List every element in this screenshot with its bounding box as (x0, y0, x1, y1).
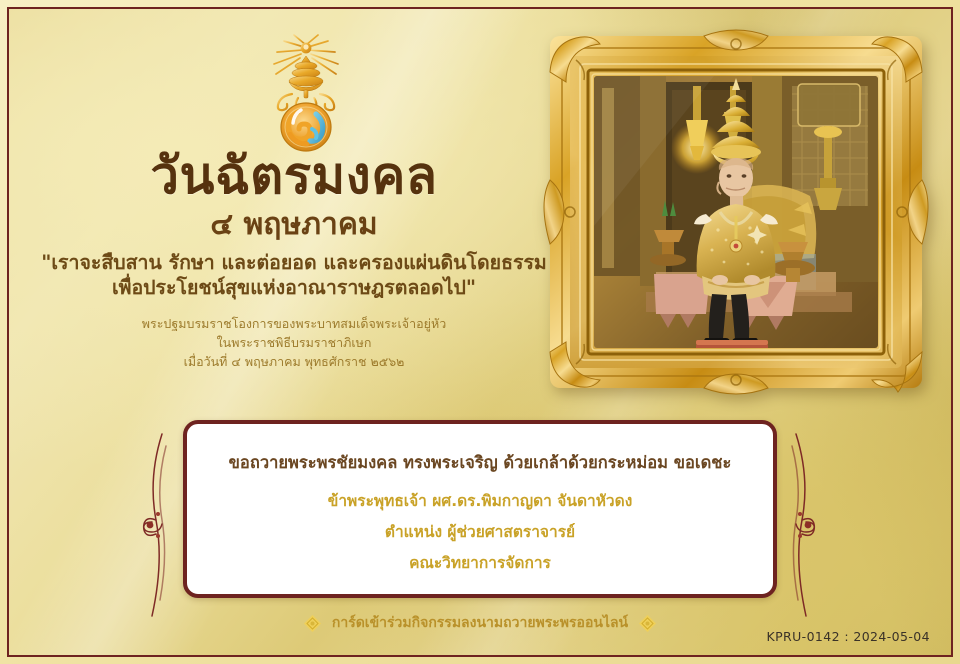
document-id: KPRU-0142 : 2024-05-04 (767, 629, 931, 644)
royal-cypher-emblem (252, 28, 360, 154)
diamond-ornament-right-icon (639, 615, 656, 632)
observance-date: ๔ พฤษภาคม (14, 206, 574, 244)
royal-portrait-frame (536, 24, 936, 400)
royal-quote: "เราจะสืบสาน รักษา และต่อยอด และครองแผ่น… (14, 250, 574, 302)
royal-quote-line-2: เพื่อประโยชน์สุขแห่งอาณาราษฎรตลอดไป" (14, 275, 574, 301)
signer-name: ข้าพระพุทธเจ้า ผศ.ดร.พิมกาญดา จันดาหัวดง (187, 493, 773, 511)
flourish-ornament-right (776, 430, 822, 620)
attribution-line-1: พระปฐมบรมราชโองการของพระบาทสมเด็จพระเจ้า… (14, 315, 574, 334)
blessing-text: ขอถวายพระพรชัยมงคล ทรงพระเจริญ ด้วยเกล้า… (187, 454, 773, 473)
attribution-line-2: ในพระราชพิธีบรมราชาภิเษก (14, 334, 574, 353)
signer-faculty: คณะวิทยาการจัดการ (187, 555, 773, 573)
page-title: วันฉัตรมงคล (14, 150, 574, 204)
royal-quote-line-1: "เราจะสืบสาน รักษา และต่อยอด และครองแผ่น… (14, 250, 574, 276)
diamond-ornament-left-icon (304, 615, 321, 632)
headline-block: วันฉัตรมงคล ๔ พฤษภาคม "เราจะสืบสาน รักษา… (14, 150, 574, 372)
flourish-ornament-left (136, 430, 182, 620)
footer-text: การ์ดเข้าร่วมกิจกรรมลงนามถวายพระพรออนไลน… (332, 612, 628, 634)
signer-position: ตำแหน่ง ผู้ช่วยศาสตราจารย์ (187, 524, 773, 542)
attribution-line-3: เมื่อวันที่ ๔ พฤษภาคม พุทธศักราช ๒๕๖๒ (14, 353, 574, 372)
blessing-message-card: ขอถวายพระพรชัยมงคล ทรงพระเจริญ ด้วยเกล้า… (183, 420, 777, 598)
commemorative-card: วันฉัตรมงคล ๔ พฤษภาคม "เราจะสืบสาน รักษา… (0, 0, 960, 664)
quote-attribution: พระปฐมบรมราชโองการของพระบาทสมเด็จพระเจ้า… (14, 315, 574, 371)
